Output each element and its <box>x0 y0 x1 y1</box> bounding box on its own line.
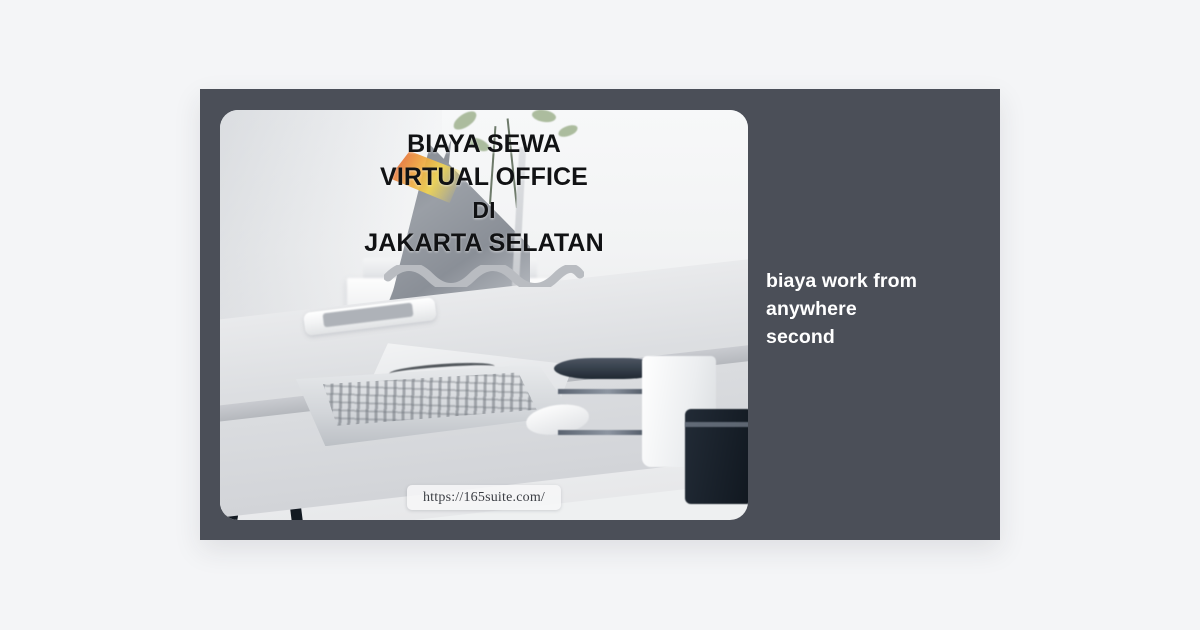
watermark-url: https://165suite.com/ <box>407 485 561 510</box>
thumbnail-title: BIAYA SEWA VIRTUAL OFFICE DI JAKARTA SEL… <box>220 128 748 287</box>
caption-line-2: anywhere <box>766 295 981 323</box>
caption-line-3: second <box>766 323 981 351</box>
caption-line-1: biaya work from <box>766 267 981 295</box>
dark-cup-ring <box>685 422 748 427</box>
title-line-4: JAKARTA SELATAN <box>220 227 748 260</box>
card-caption: biaya work from anywhere second <box>766 267 981 351</box>
title-line-1: BIAYA SEWA <box>220 128 748 161</box>
result-card[interactable]: BIAYA SEWA VIRTUAL OFFICE DI JAKARTA SEL… <box>200 89 1000 540</box>
title-line-2: VIRTUAL OFFICE <box>220 161 748 194</box>
thumbnail-image[interactable]: BIAYA SEWA VIRTUAL OFFICE DI JAKARTA SEL… <box>220 110 748 520</box>
watermark-url-text: https://165suite.com/ <box>423 490 545 505</box>
title-line-3: DI <box>220 194 748 227</box>
wavy-underline-icon <box>384 265 584 287</box>
